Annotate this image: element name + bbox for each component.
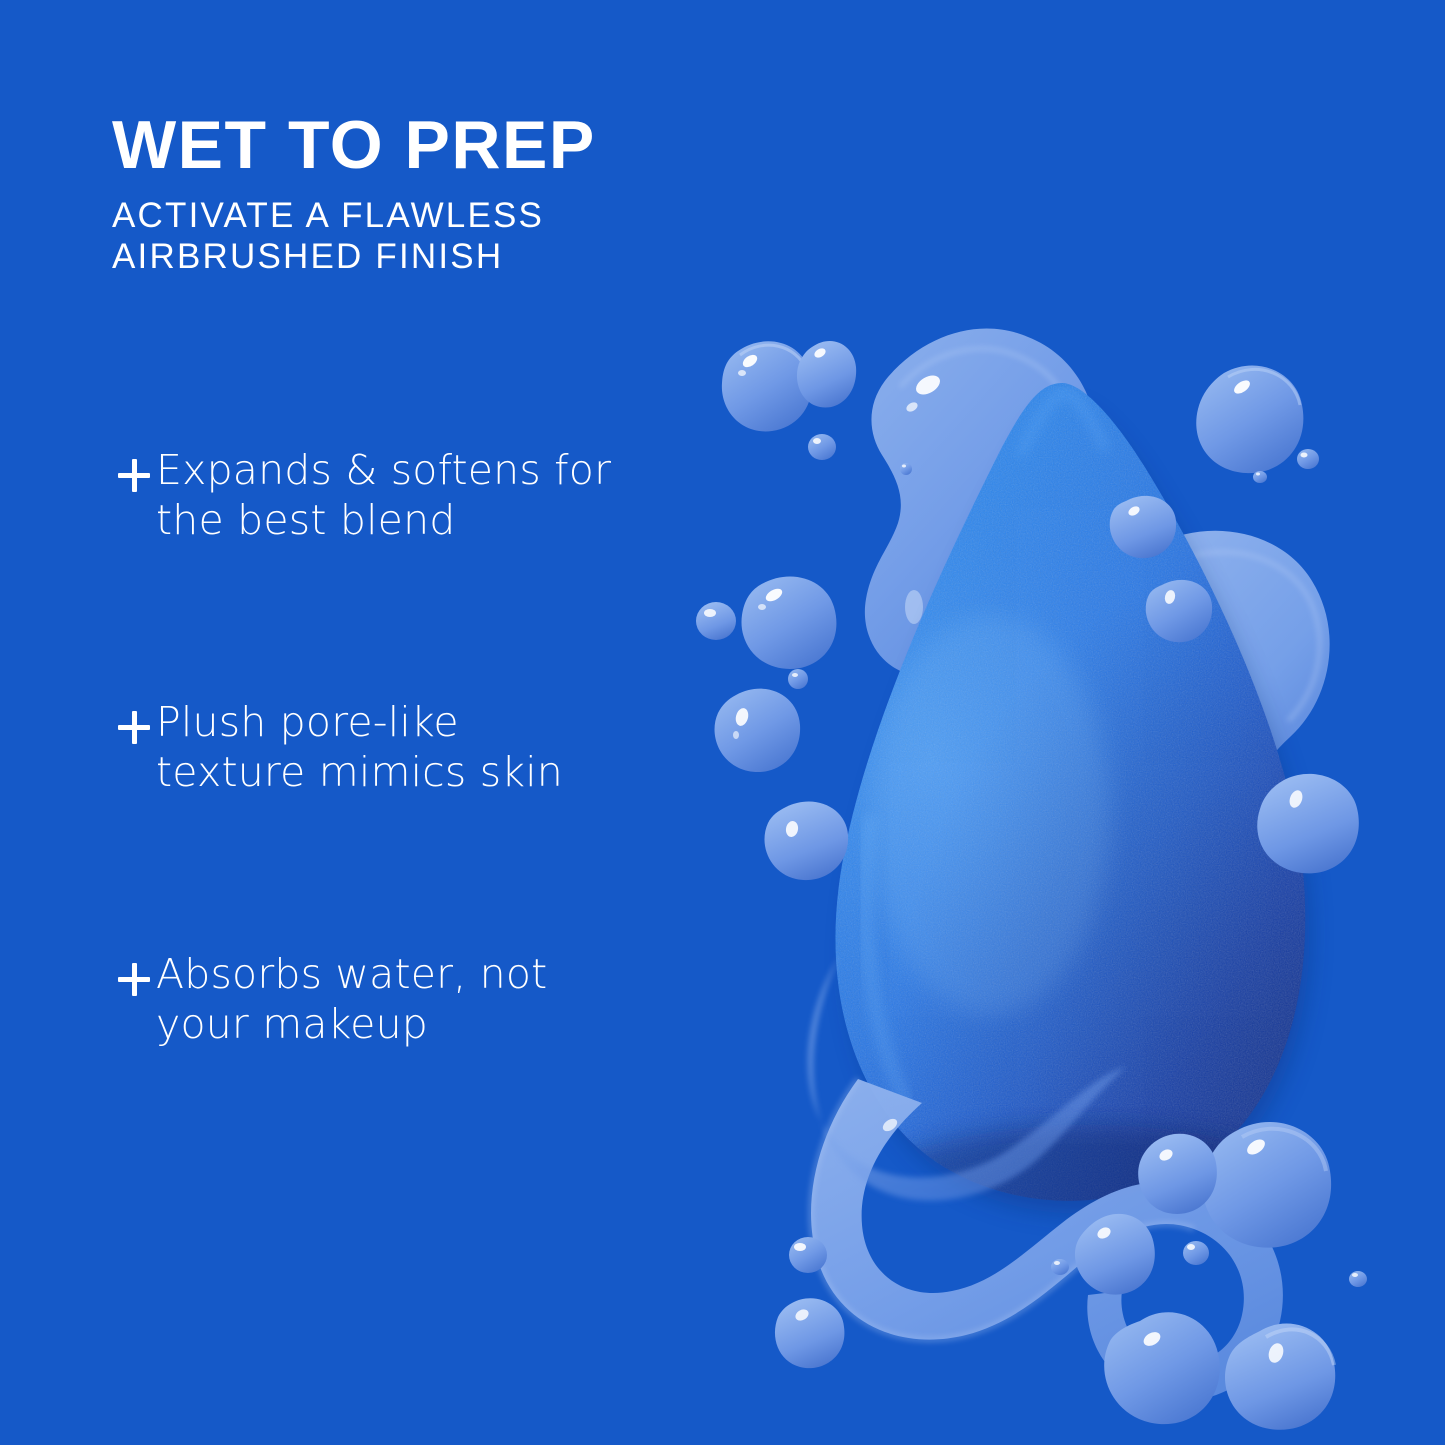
- text-column: WET TO PREP ACTIVATE A FLAWLESS AIRBRUSH…: [0, 0, 740, 1445]
- promo-banner: WET TO PREP ACTIVATE A FLAWLESS AIRBRUSH…: [0, 0, 1445, 1445]
- subtitle-line-1: ACTIVATE A FLAWLESS: [112, 195, 740, 236]
- product-photo: [690, 255, 1445, 1445]
- subtitle-line-2: AIRBRUSHED FINISH: [112, 236, 740, 277]
- page-title: WET TO PREP: [112, 112, 740, 179]
- page-subtitle: ACTIVATE A FLAWLESS AIRBRUSHED FINISH: [112, 195, 740, 278]
